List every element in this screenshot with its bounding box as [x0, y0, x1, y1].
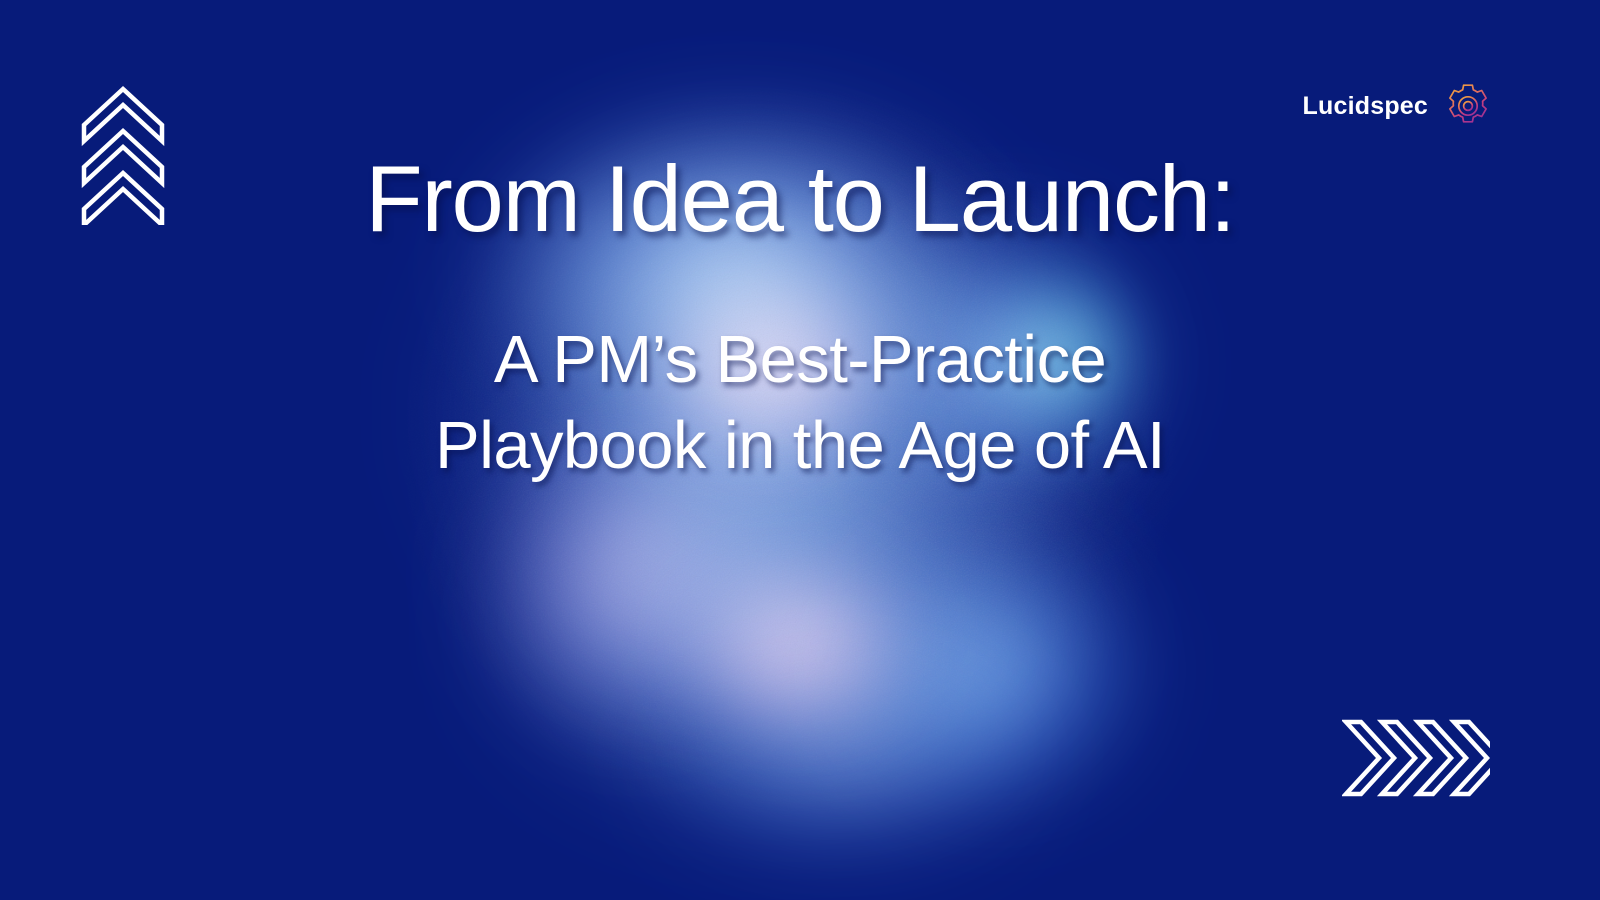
brand-name: Lucidspec: [1303, 94, 1428, 119]
page-title: From Idea to Launch:: [0, 149, 1600, 249]
presentation-slide: Lucidspec From Idea to Launch: A PM’s Be…: [0, 0, 1600, 900]
headline-block: From Idea to Launch: A PM’s Best-Practic…: [0, 149, 1600, 483]
subtitle-line-2: Playbook in the Age of AI: [0, 410, 1600, 482]
chevron-right-stack-icon: [1342, 718, 1490, 798]
subtitle-line-1: A PM’s Best-Practice: [0, 324, 1600, 396]
blob-pink-bottom: [670, 545, 925, 750]
brand-lockup: Lucidspec: [1303, 82, 1492, 130]
blob-bottom-tail: [635, 640, 1055, 870]
gear-icon: [1444, 82, 1492, 130]
blob-bottom-halo: [475, 430, 1115, 830]
blob-bottom-blue: [830, 520, 1160, 820]
